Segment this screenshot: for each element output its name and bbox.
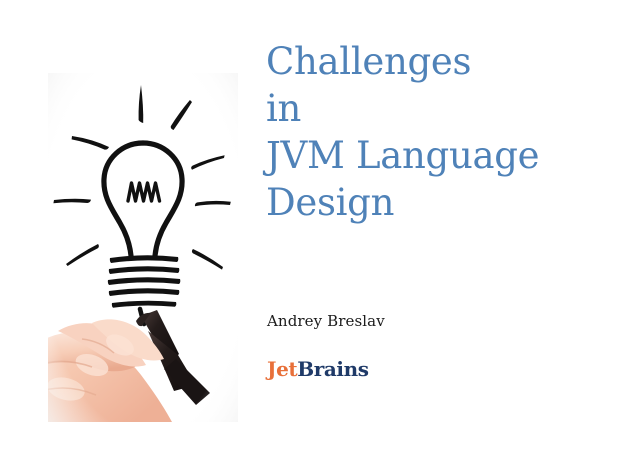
logo-jet-text: Jet [267, 357, 297, 381]
page-title: Challenges in JVM Language Design [266, 38, 626, 226]
lightbulb-drawing-photo [48, 73, 238, 422]
jetbrains-logo: JetBrains [267, 357, 369, 381]
lightbulb-illustration [48, 73, 238, 422]
title-line-3: JVM Language [266, 132, 626, 179]
title-slide: Challenges in JVM Language Design Andrey… [0, 0, 640, 452]
title-line-2: in [266, 85, 626, 132]
logo-brains-text: Brains [297, 357, 368, 381]
title-line-4: Design [266, 179, 626, 226]
author-name: Andrey Breslav [267, 311, 385, 331]
title-line-1: Challenges [266, 38, 626, 85]
